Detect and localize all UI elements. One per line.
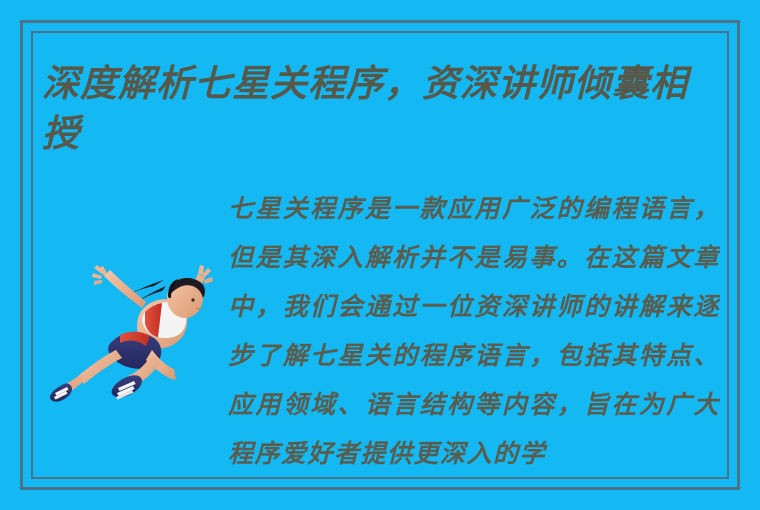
runner-trailing-leg bbox=[63, 350, 122, 394]
runner-trailing-shoe bbox=[50, 383, 72, 401]
poster-canvas: 深度解析七星关程序，资深讲师倾囊相授 bbox=[0, 0, 760, 510]
runner-driving-shoe bbox=[112, 375, 142, 399]
body-paragraph: 七星关程序是一款应用广泛的编程语言，但是其深入解析并不是易事。在这篇文章中，我们… bbox=[228, 184, 720, 484]
page-title: 深度解析七星关程序，资深讲师倾囊相授 bbox=[42, 58, 722, 158]
runner-rear-arm bbox=[92, 265, 146, 308]
female-sprinter-runner-illustration bbox=[46, 236, 236, 416]
runner-head bbox=[167, 278, 205, 318]
